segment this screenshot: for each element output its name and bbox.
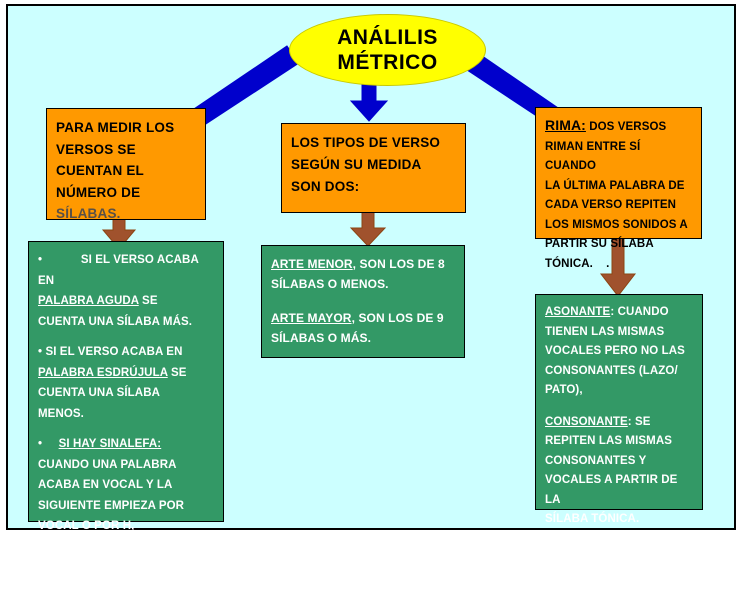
reglas-item-3-line-4: SIGUIENTE EMPIEZA POR xyxy=(38,496,214,517)
rimas2-item-1-line-2: TIENEN LAS MISMAS xyxy=(545,323,693,343)
box-tipos-line-3: SON DOS: xyxy=(291,176,456,198)
diagram-title-ellipse: ANÁLILIS MÉTRICO xyxy=(289,14,486,86)
diagram-title-line2: MÉTRICO xyxy=(337,50,437,75)
box-arte-body: ARTE MENOR, SON LOS DE 8 SÍLABAS O MENOS… xyxy=(262,246,464,353)
box-rima-line-3: LA ÚLTIMA PALABRA DE xyxy=(545,177,692,197)
box-rima-body: RIMA: DOS VERSOS RIMAN ENTRE SÍ CUANDO L… xyxy=(536,108,701,279)
reglas-item-2-line-2: PALABRA ESDRÚJULA SE xyxy=(38,363,214,384)
box-rima-line-6: PARTIR SU SÍLABA xyxy=(545,235,692,255)
arte-item-1-line-1: ARTE MENOR, SON LOS DE 8 xyxy=(271,254,455,274)
box-tipos-line-1: LOS TIPOS DE VERSO xyxy=(291,132,456,154)
reglas-item-3-line-7: LAS DOS SÍLABAS COMO xyxy=(38,557,214,578)
box-rima-line-7: TÓNICA. . xyxy=(545,255,692,275)
arte-item-2-underlined: ARTE MAYOR xyxy=(271,311,352,325)
arte-item-1-post: , SON LOS DE 8 xyxy=(353,257,445,271)
box-rimas2-body: ASONANTE: CUANDO TIENEN LAS MISMAS VOCAL… xyxy=(536,295,702,554)
arte-item-1-line-2: SÍLABAS O MENOS. xyxy=(271,274,455,294)
rimas2-item-1-underlined: ASONANTE xyxy=(545,306,610,318)
reglas-item-3-line-5: VOCAL O POR H, xyxy=(38,516,214,537)
reglas-item-2-line-4: MENOS. xyxy=(38,404,214,425)
box-medir-line-5: SÍLABAS. xyxy=(56,203,196,225)
reglas-item-3-line-8: UNA SOLA. xyxy=(38,578,214,599)
box-los-tipos-body: LOS TIPOS DE VERSO SEGÚN SU MEDIDA SON D… xyxy=(282,124,465,203)
reglas-item-1-pre: SI EL VERSO ACABA EN xyxy=(38,254,202,287)
rimas2-item-1-line-3: VOCALES PERO NO LAS xyxy=(545,342,693,362)
rimas2-item-2-line-2: REPITEN LAS MISMAS xyxy=(545,432,693,452)
reglas-item-3-line-1: • SI HAY SINALEFA: xyxy=(38,434,214,455)
box-rima-first-line: RIMA: DOS VERSOS xyxy=(545,116,692,138)
box-medir-line-4: NÚMERO DE xyxy=(56,182,196,204)
rimas2-item-2-post: : SE xyxy=(628,416,651,428)
rimas2-item-1-line-1: ASONANTE: CUANDO xyxy=(545,303,693,323)
rimas2-item-2-underlined: CONSONANTE xyxy=(545,416,628,428)
diagram-title-line1: ANÁLILIS xyxy=(337,25,438,50)
box-rima-line-2: RIMAN ENTRE SÍ CUANDO xyxy=(545,138,692,177)
rimas2-item-1-line-4: CONSONANTES (LAZO/ xyxy=(545,362,693,382)
reglas-item-3-line-6: ENTONCES SE CUENTAN xyxy=(38,537,214,558)
arte-item-1-underlined: ARTE MENOR xyxy=(271,257,353,271)
reglas-item-3-underlined: SI HAY SINALEFA: xyxy=(59,438,162,450)
arte-spacer xyxy=(271,294,455,308)
reglas-item-2-bullet: • xyxy=(38,346,42,358)
box-para-medir-body: PARA MEDIR LOS VERSOS SE CUENTAN EL NÚME… xyxy=(47,109,205,230)
rimas2-item-2-line-3: CONSONANTES Y xyxy=(545,452,693,472)
reglas-item-1-post: SE xyxy=(139,295,158,307)
reglas-item-1-line-2: PALABRA AGUDA SE xyxy=(38,291,214,312)
reglas-item-1-line-3: CUENTA UNA SÍLABA MÁS. xyxy=(38,312,214,333)
rimas2-spacer xyxy=(545,401,693,413)
reglas-item-2-line-3: CUENTA UNA SÍLABA xyxy=(38,383,214,404)
box-tipos-line-2: SEGÚN SU MEDIDA xyxy=(291,154,456,176)
reglas-item-2-pre: SI EL VERSO ACABA EN xyxy=(45,346,182,358)
box-medir-line-3: CUENTAN EL xyxy=(56,160,196,182)
box-reglas-body: • SI EL VERSO ACABA EN PALABRA AGUDA SE … xyxy=(29,242,223,603)
diagram-canvas: ANÁLILIS MÉTRICO PARA MEDIR LOS VERSOS S… xyxy=(6,4,736,530)
reglas-spacer-1 xyxy=(38,332,214,342)
reglas-item-2-line-1: • SI EL VERSO ACABA EN xyxy=(38,342,214,363)
rimas2-item-2-line-4: VOCALES A PARTIR DE LA xyxy=(545,471,693,510)
reglas-item-1-line-1: • SI EL VERSO ACABA EN xyxy=(38,250,214,291)
arte-item-2-line-1: ARTE MAYOR, SON LOS DE 9 xyxy=(271,308,455,328)
box-rima-heading: RIMA: xyxy=(545,117,586,133)
box-arte-menor-mayor: ARTE MENOR, SON LOS DE 8 SÍLABAS O MENOS… xyxy=(261,245,465,358)
box-rima: RIMA: DOS VERSOS RIMAN ENTRE SÍ CUANDO L… xyxy=(535,107,702,239)
box-reglas-de-medida: • SI EL VERSO ACABA EN PALABRA AGUDA SE … xyxy=(28,241,224,522)
box-para-medir-los-versos: PARA MEDIR LOS VERSOS SE CUENTAN EL NÚME… xyxy=(46,108,206,220)
box-asonante-consonante: ASONANTE: CUANDO TIENEN LAS MISMAS VOCAL… xyxy=(535,294,703,510)
rimas2-item-2-line-6: (DORADA/ CLAVADA). xyxy=(545,530,693,550)
box-rima-line-4: CADA VERSO REPITEN xyxy=(545,196,692,216)
box-medir-line-2: VERSOS SE xyxy=(56,139,196,161)
box-los-tipos-de-verso: LOS TIPOS DE VERSO SEGÚN SU MEDIDA SON D… xyxy=(281,123,466,213)
reglas-item-1-bullet: • xyxy=(38,254,42,266)
reglas-item-2-underlined: PALABRA ESDRÚJULA xyxy=(38,367,168,379)
rimas2-item-2-line-5: SÍLABA TÓNICA. xyxy=(545,510,693,530)
arrow-tipos-to-arte xyxy=(351,209,385,246)
reglas-item-3-line-3: ACABA EN VOCAL Y LA xyxy=(38,475,214,496)
reglas-item-1-underlined: PALABRA AGUDA xyxy=(38,295,139,307)
reglas-spacer-2 xyxy=(38,424,214,434)
arte-item-2-line-2: SÍLABAS O MÁS. xyxy=(271,328,455,348)
reglas-item-3-line-2: CUANDO UNA PALABRA xyxy=(38,455,214,476)
rimas2-item-2-line-1: CONSONANTE: SE xyxy=(545,413,693,433)
box-medir-line-1: PARA MEDIR LOS xyxy=(56,117,196,139)
rimas2-item-1-line-5: PATO), xyxy=(545,381,693,401)
rimas2-item-1-post: : CUANDO xyxy=(610,306,668,318)
reglas-item-3-bullet: • xyxy=(38,438,42,450)
box-rima-line-1: DOS VERSOS xyxy=(589,121,666,133)
reglas-item-2-post: SE xyxy=(168,367,187,379)
box-rima-line-5: LOS MISMOS SONIDOS A xyxy=(545,216,692,236)
arte-item-2-post: , SON LOS DE 9 xyxy=(352,311,444,325)
